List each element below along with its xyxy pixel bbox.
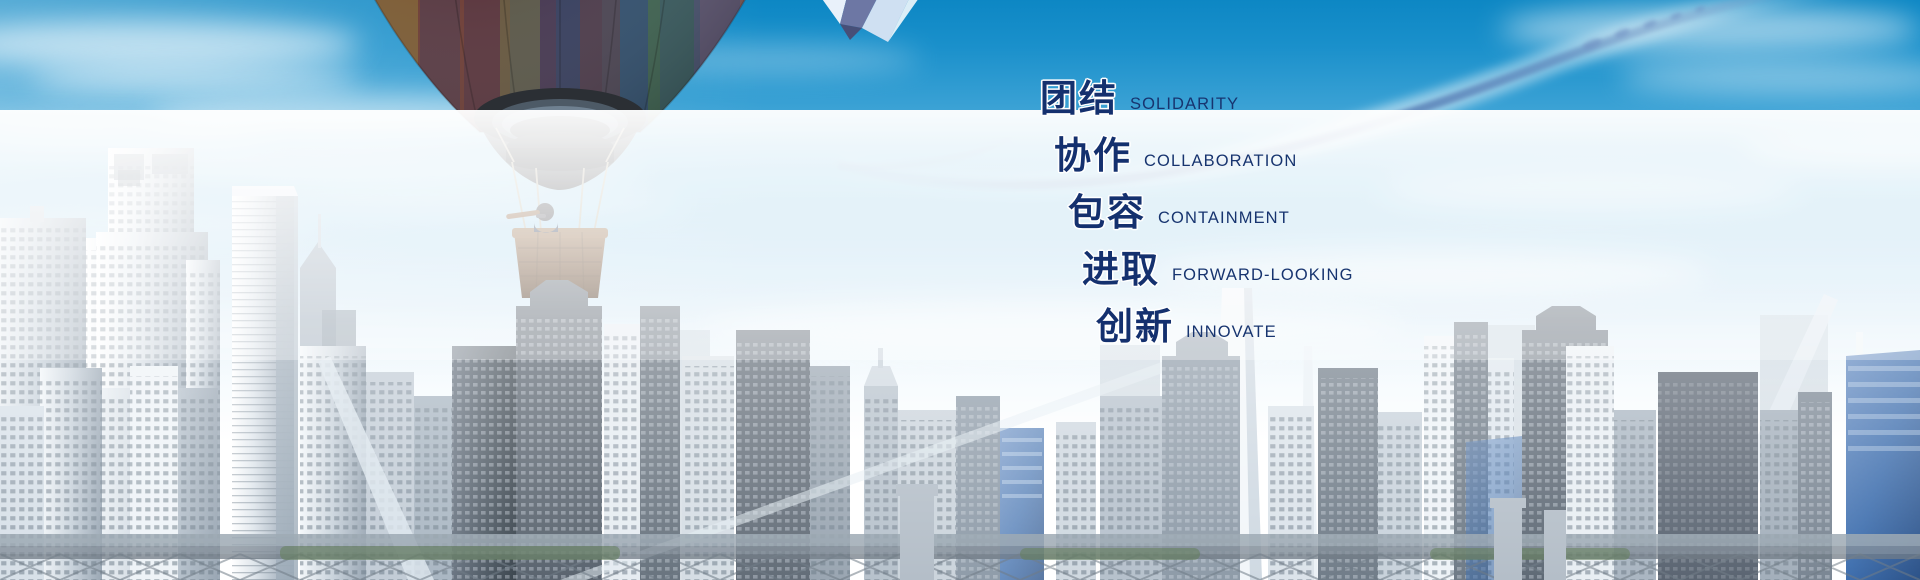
slogan-solidarity: 团结 SOLIDARITY	[1040, 68, 1600, 125]
cloud	[1500, 6, 1920, 52]
city-skyline-icon	[0, 110, 1920, 580]
slogan-cn-text: 团结	[1040, 68, 1118, 122]
slogan-innovate: 创新 INNOVATE	[1096, 296, 1600, 353]
slogan-cn-text: 协作	[1054, 125, 1132, 179]
slogan-list: 团结 SOLIDARITY 协作 COLLABORATION 包容 CONTAI…	[1040, 68, 1600, 353]
slogan-en-text: CONTAINMENT	[1158, 209, 1290, 228]
slogan-forward-looking: 进取 FORWARD-LOOKING	[1082, 239, 1600, 296]
slogan-en-text: INNOVATE	[1186, 323, 1277, 342]
slogan-cn-text: 创新	[1096, 296, 1174, 350]
slogan-en-text: FORWARD-LOOKING	[1172, 266, 1354, 285]
slogan-en-text: SOLIDARITY	[1130, 95, 1239, 114]
hero-banner: 团结 SOLIDARITY 协作 COLLABORATION 包容 CONTAI…	[0, 0, 1920, 580]
slogan-cn-text: 进取	[1082, 239, 1160, 293]
slogan-collaboration: 协作 COLLABORATION	[1054, 125, 1600, 182]
slogan-cn-text: 包容	[1068, 182, 1146, 236]
slogan-en-text: COLLABORATION	[1144, 152, 1297, 171]
slogan-containment: 包容 CONTAINMENT	[1068, 182, 1600, 239]
